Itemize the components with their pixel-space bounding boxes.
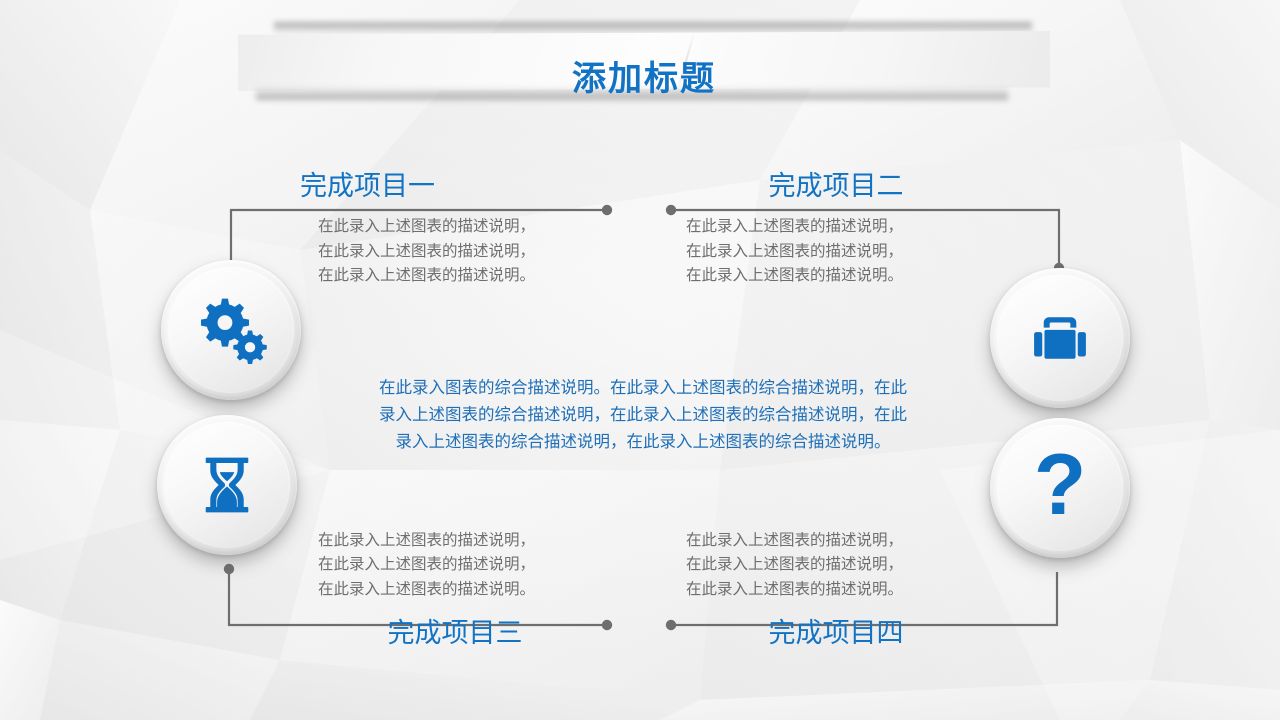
icon-circle-question[interactable]: ?: [990, 418, 1130, 558]
page-title: 添加标题: [238, 62, 1050, 96]
title-banner: 添加标题: [238, 22, 1050, 100]
quadrant-title-four: 完成项目四: [678, 619, 994, 647]
slide-canvas: 添加标题 完成项目一 在此录入上述图表的描述说明， 在此录入上述图表的描述说明，…: [0, 0, 1280, 720]
icon-circle-hourglass[interactable]: [157, 415, 297, 555]
quadrant-body-one: 在此录入上述图表的描述说明， 在此录入上述图表的描述说明， 在此录入上述图表的描…: [300, 214, 630, 287]
briefcase-icon: [1023, 301, 1097, 375]
hourglass-icon: [189, 447, 265, 523]
quadrant-bottom-right: 在此录入上述图表的描述说明， 在此录入上述图表的描述说明， 在此录入上述图表的描…: [678, 528, 1008, 648]
icon-circle-gears[interactable]: [161, 260, 301, 400]
question-mark-icon: ?: [1034, 442, 1087, 528]
gears-icon: [188, 287, 274, 373]
quadrant-bottom-left: 在此录入上述图表的描述说明， 在此录入上述图表的描述说明， 在此录入上述图表的描…: [300, 528, 630, 648]
quadrant-body-three: 在此录入上述图表的描述说明， 在此录入上述图表的描述说明， 在此录入上述图表的描…: [300, 528, 630, 601]
quadrant-title-two: 完成项目二: [678, 172, 994, 200]
quadrant-title-one: 完成项目一: [300, 172, 630, 200]
icon-circle-briefcase[interactable]: [990, 268, 1130, 408]
center-summary-text: 在此录入图表的综合描述说明。在此录入上述图表的综合描述说明，在此录入上述图表的综…: [378, 374, 908, 456]
quadrant-top-left: 完成项目一 在此录入上述图表的描述说明， 在此录入上述图表的描述说明， 在此录入…: [300, 172, 630, 288]
quadrant-title-three: 完成项目三: [300, 619, 610, 647]
quadrant-body-two: 在此录入上述图表的描述说明， 在此录入上述图表的描述说明， 在此录入上述图表的描…: [678, 214, 1008, 287]
quadrant-top-right: 完成项目二 在此录入上述图表的描述说明， 在此录入上述图表的描述说明， 在此录入…: [678, 172, 1008, 288]
quadrant-body-four: 在此录入上述图表的描述说明， 在此录入上述图表的描述说明， 在此录入上述图表的描…: [678, 528, 1008, 601]
